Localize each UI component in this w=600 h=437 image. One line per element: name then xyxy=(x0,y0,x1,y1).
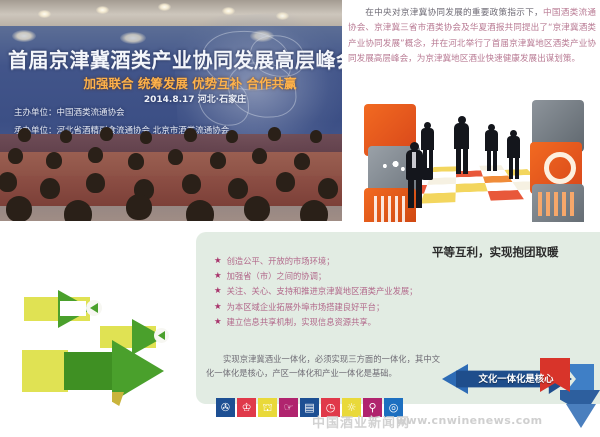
business-puzzle-illustration xyxy=(348,86,598,222)
list-item: ★ 为本区域企业拓展外埠市场搭建良好平台； xyxy=(214,301,444,313)
audience-crowd xyxy=(0,126,342,221)
conclusion-text: 实现京津冀酒业一体化，必须实现三方面的一体化，其中文化一体化是核心，产区一体化和… xyxy=(206,354,440,378)
globe-icon[interactable]: ✇ xyxy=(216,398,235,417)
footer-arrow-decor-2 xyxy=(566,404,596,428)
green-arrows-graphic xyxy=(8,262,208,420)
bullet-list: ★ 创造公平、开放的市场环境； ★ 加强省（市）之间的协调； ★ 关注、关心、支… xyxy=(214,255,444,331)
star-bullet-icon: ★ xyxy=(214,316,222,328)
star-bullet-icon: ★ xyxy=(214,285,222,297)
wall-glow xyxy=(120,32,146,44)
ceiling-light-icon xyxy=(38,10,51,18)
list-item: ★ 关注、关心、支持和推进京津冀地区酒类产业发展； xyxy=(214,285,444,297)
list-item-label: 加强省（市）之间的协调； xyxy=(227,270,327,282)
intro-paragraph: 在中央对京津冀协同发展的重要政策指示下，中国酒类流通协会、京津冀三省市酒类协会及… xyxy=(348,6,596,82)
star-bullet-icon: ★ xyxy=(214,255,222,267)
page-root: 首届京津冀酒类产业协同发展高层峰会 加强联合 统筹发展 优势互补 合作共赢 20… xyxy=(0,0,600,437)
banner-subtitle: 加强联合 统筹发展 优势互补 合作共赢 xyxy=(40,73,340,92)
list-item: ★ 加强省（市）之间的协调； xyxy=(214,270,444,282)
site-footer: ✇ ♔ ⛫ ☞ ▤ ◷ ☼ ⚲ ◎ 中国酒业新闻网 www.cnwinenews… xyxy=(196,396,600,432)
bank-icon[interactable]: ⛫ xyxy=(258,398,277,417)
list-item-label: 关注、关心、支持和推进京津冀地区酒类产业发展； xyxy=(227,285,418,297)
banner-host-line: 主办单位：中国酒类流通协会 xyxy=(14,106,125,118)
badge-label: 文化一体化是核心 xyxy=(464,371,568,385)
hand-icon[interactable]: ☞ xyxy=(279,398,298,417)
star-bullet-icon: ★ xyxy=(214,270,222,282)
wall-glow xyxy=(12,30,36,42)
list-item: ★ 创造公平、开放的市场环境； xyxy=(214,255,444,267)
list-item: ★ 建立信息共享机制，实现信息资源共享。 xyxy=(214,316,444,328)
banner-title: 首届京津冀酒类产业协同发展高层峰会 xyxy=(8,44,338,73)
list-item-label: 创造公平、开放的市场环境； xyxy=(227,255,335,267)
banner-date-location: 2014.8.17 河北·石家庄 xyxy=(90,92,300,105)
star-bullet-icon: ★ xyxy=(214,301,222,313)
ceiling-light-icon xyxy=(96,6,109,14)
conclusion-paragraph: 实现京津冀酒业一体化，必须实现三方面的一体化，其中文化一体化是核心，产区一体化和… xyxy=(206,352,440,380)
conference-photo: 首届京津冀酒类产业协同发展高层峰会 加强联合 统筹发展 优势互补 合作共赢 20… xyxy=(0,0,342,221)
ceiling-light-icon xyxy=(158,3,171,11)
site-url[interactable]: www.cnwinenews.com xyxy=(396,414,542,427)
intro-segment-1: 在中央对京津冀协同发展的重要政策指示下， xyxy=(365,8,543,18)
list-item-label: 建立信息共享机制，实现信息资源共享。 xyxy=(227,316,376,328)
people-icon[interactable]: ♔ xyxy=(237,398,256,417)
list-item-label: 为本区域企业拓展外埠市场搭建良好平台； xyxy=(227,301,385,313)
ceiling-light-icon xyxy=(222,7,235,15)
panel-heading: 平等互利，实现抱团取暖 xyxy=(432,244,559,260)
